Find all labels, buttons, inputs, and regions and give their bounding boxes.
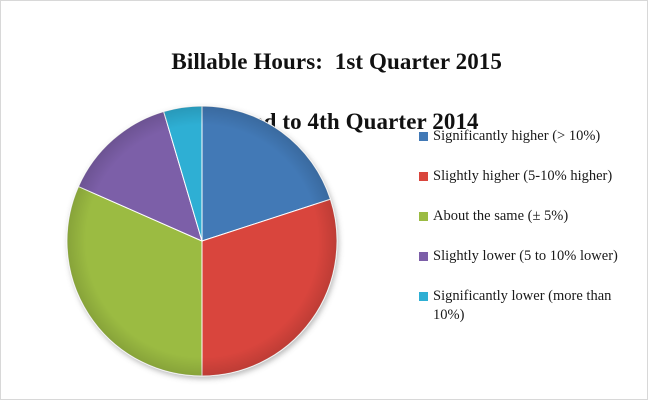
title-line-1: Billable Hours: 1st Quarter 2015 bbox=[171, 49, 502, 74]
chart-legend: Significantly higher (> 10%) Slightly hi… bbox=[419, 127, 645, 346]
legend-swatch-slightly-higher bbox=[419, 172, 428, 181]
legend-label-about-the-same: About the same (± 5%) bbox=[433, 207, 568, 226]
legend-label-significantly-higher: Significantly higher (> 10%) bbox=[433, 127, 600, 146]
legend-item-significantly-lower[interactable]: Significantly lower (more than 10%) bbox=[419, 287, 645, 325]
legend-swatch-slightly-lower bbox=[419, 252, 428, 261]
legend-item-slightly-lower[interactable]: Slightly lower (5 to 10% lower) bbox=[419, 247, 645, 266]
legend-label-slightly-higher: Slightly higher (5-10% higher) bbox=[433, 167, 612, 186]
legend-label-slightly-lower: Slightly lower (5 to 10% lower) bbox=[433, 247, 618, 266]
pie-chart-svg bbox=[59, 99, 349, 389]
legend-swatch-significantly-lower bbox=[419, 292, 428, 301]
legend-item-about-the-same[interactable]: About the same (± 5%) bbox=[419, 207, 645, 226]
legend-swatch-significantly-higher bbox=[419, 132, 428, 141]
legend-item-slightly-higher[interactable]: Slightly higher (5-10% higher) bbox=[419, 167, 645, 186]
pie-edge-shading bbox=[67, 106, 337, 376]
slide-canvas: Billable Hours: 1st Quarter 2015 Compare… bbox=[0, 0, 648, 400]
legend-swatch-about-the-same bbox=[419, 212, 428, 221]
legend-label-significantly-lower: Significantly lower (more than 10%) bbox=[433, 287, 638, 325]
legend-item-significantly-higher[interactable]: Significantly higher (> 10%) bbox=[419, 127, 645, 146]
pie-chart bbox=[59, 99, 349, 389]
